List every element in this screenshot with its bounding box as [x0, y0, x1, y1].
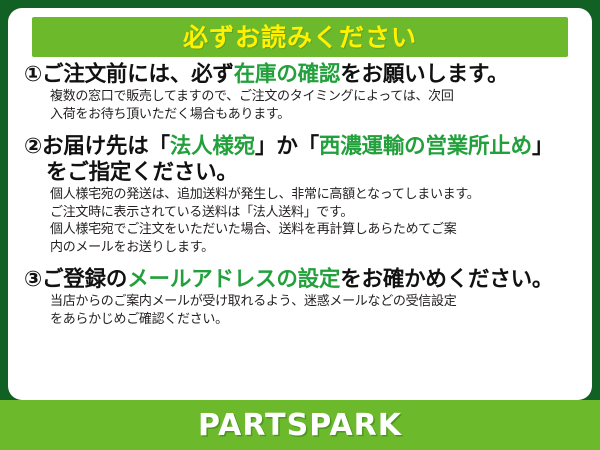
notice-body: ①ご注文前には、必ず在庫の確認をお願いします。複数の窓口で販売してますので、ご注…	[18, 57, 582, 328]
brand-footer: PARTSPARK	[0, 400, 600, 450]
notice-highlight-text: 法人様宛	[170, 134, 255, 159]
notice-plain-text: をお確かめください。	[340, 267, 553, 292]
notice-plain-text: をお願いします。	[340, 62, 508, 87]
notice-item-heading: ③ご登録のメールアドレスの設定をお確かめください。	[24, 267, 576, 293]
notice-plain-text: ご注文前には、必ず	[42, 62, 234, 87]
notice-highlight-text: メールアドレスの設定	[127, 267, 340, 292]
notice-description-line: をあらかじめご確認ください。	[50, 311, 576, 328]
brand-logo: PARTSPARK	[198, 408, 402, 443]
notice-poster: 必ずお読みください ①ご注文前には、必ず在庫の確認をお願いします。複数の窓口で販…	[0, 0, 600, 450]
notice-item-number: ③	[24, 267, 42, 292]
notice-item: ②お届け先は「法人様宛」か「西濃運輸の営業所止め」をご指定ください。個人様宅宛の…	[24, 134, 576, 256]
notice-plain-text: 」か「	[255, 134, 319, 159]
notice-description-line: 個人様宅宛の発送は、追加送料が発生し、非常に高額となってしまいます。	[50, 186, 576, 203]
notice-item-heading: ②お届け先は「法人様宛」か「西濃運輸の営業所止め」	[24, 134, 576, 160]
notice-plain-text: ご登録の	[42, 267, 127, 292]
banner-title: 必ずお読みください	[183, 25, 417, 50]
notice-plain-text: お届け先は「	[42, 134, 170, 159]
notice-description-line: ご注文時に表示されている送料は「法人送料」です。	[50, 204, 576, 221]
notice-item-number: ①	[24, 62, 42, 87]
notice-item-heading-line2: をご指定ください。	[24, 160, 576, 186]
notice-item-description: 個人様宅宛の発送は、追加送料が発生し、非常に高額となってしまいます。ご注文時に表…	[24, 186, 576, 256]
notice-description-line: 内のメールをお送りします。	[50, 239, 576, 256]
notice-highlight-text: 西濃運輸の営業所止め	[319, 134, 532, 159]
notice-item-heading: ①ご注文前には、必ず在庫の確認をお願いします。	[24, 62, 576, 88]
notice-panel: 必ずお読みください ①ご注文前には、必ず在庫の確認をお願いします。複数の窓口で販…	[8, 8, 592, 400]
notice-description-line: 個人様宅宛でご注文をいただいた場合、送料を再計算しあらためてご案	[50, 221, 576, 238]
notice-description-line: 入荷をお待ち頂いただく場合もあります。	[50, 106, 576, 123]
notice-item: ③ご登録のメールアドレスの設定をお確かめください。当店からのご案内メールが受け取…	[24, 267, 576, 328]
notice-plain-text: 」	[532, 134, 553, 159]
notice-description-line: 当店からのご案内メールが受け取れるよう、迷惑メールなどの受信設定	[50, 293, 576, 310]
spacer	[24, 127, 576, 134]
notice-item-list: ①ご注文前には、必ず在庫の確認をお願いします。複数の窓口で販売してますので、ご注…	[24, 62, 576, 328]
notice-item-description: 複数の窓口で販売してますので、ご注文のタイミングによっては、次回入荷をお待ち頂い…	[24, 88, 576, 123]
notice-banner: 必ずお読みください	[32, 17, 568, 57]
notice-highlight-text: 在庫の確認	[234, 62, 341, 87]
notice-description-line: 複数の窓口で販売してますので、ご注文のタイミングによっては、次回	[50, 88, 576, 105]
notice-item-number: ②	[24, 134, 42, 159]
notice-item: ①ご注文前には、必ず在庫の確認をお願いします。複数の窓口で販売してますので、ご注…	[24, 62, 576, 123]
notice-item-description: 当店からのご案内メールが受け取れるよう、迷惑メールなどの受信設定をあらかじめご確…	[24, 293, 576, 328]
